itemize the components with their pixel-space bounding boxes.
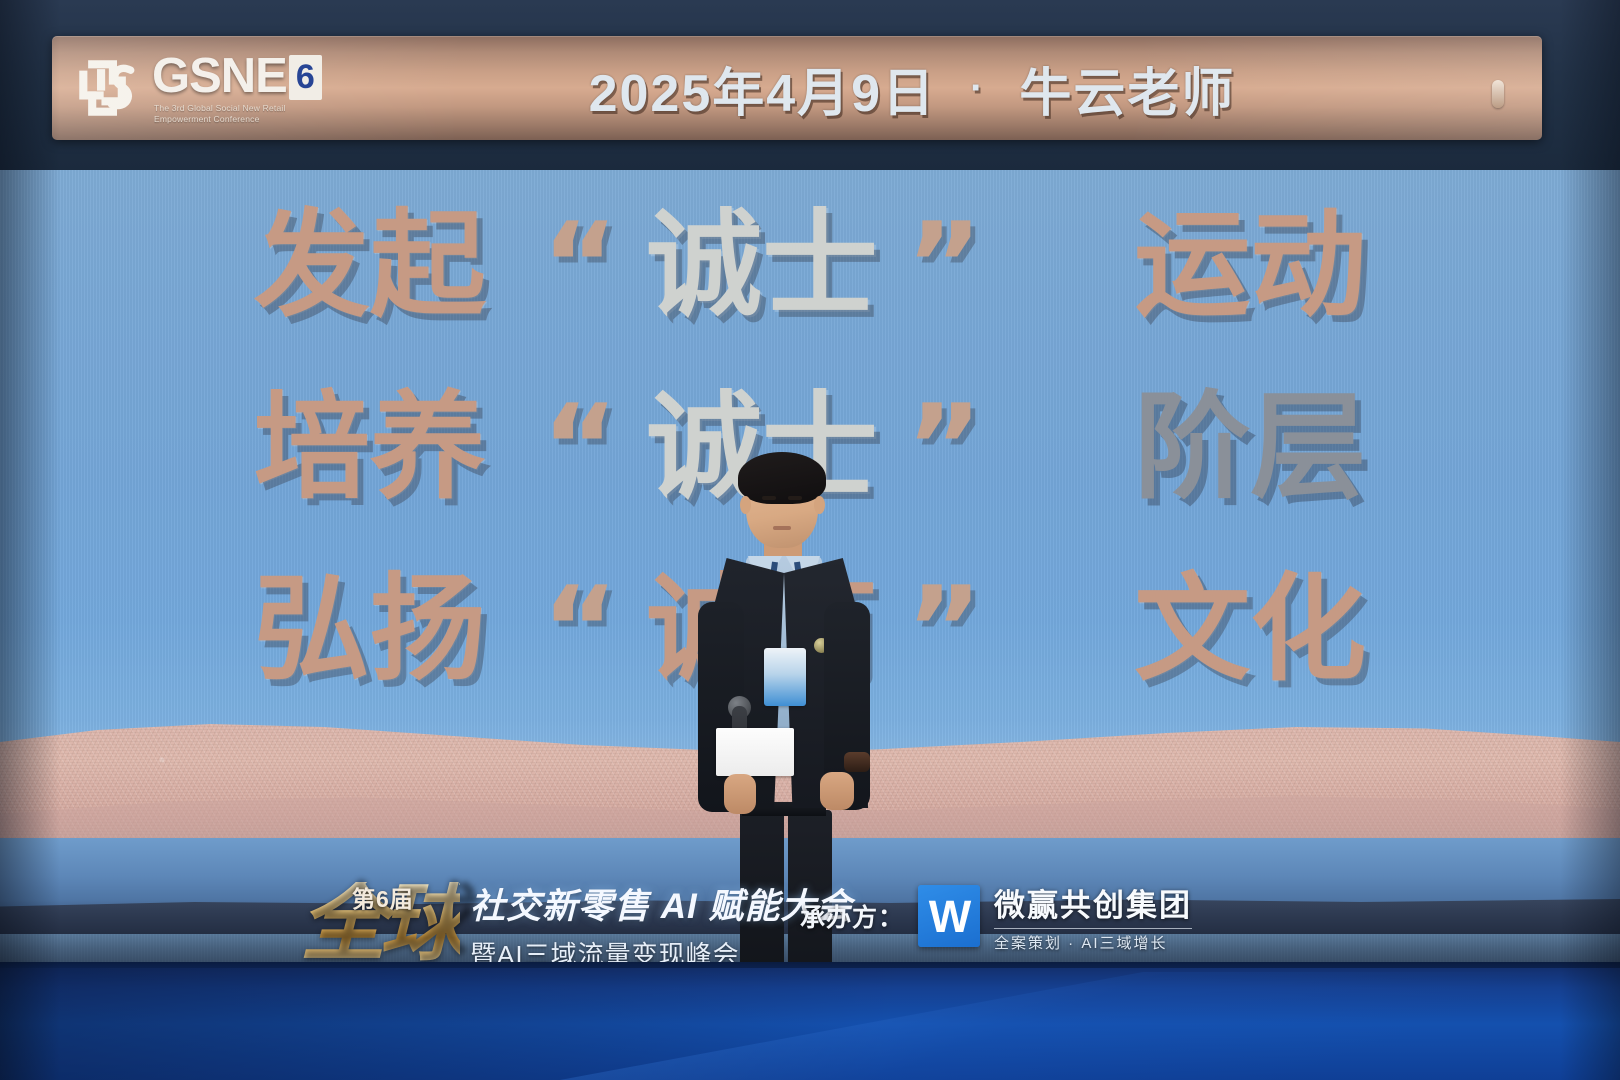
headline-1-object: 运动 bbox=[1134, 208, 1366, 324]
banner-speaker-name: 牛云老师 bbox=[1019, 51, 1235, 126]
banner-separator-dot: · bbox=[970, 68, 985, 108]
banner-title-row: 2025年4月9日 · 牛云老师 bbox=[412, 36, 1412, 140]
headline-2-open-quote: “ bbox=[542, 390, 618, 506]
headline-1-open-quote: “ bbox=[542, 208, 618, 324]
event-edition-label: 第6届 bbox=[352, 880, 414, 914]
top-date-banner: GSNE 6 The 3rd Global Social New Retail … bbox=[52, 36, 1542, 140]
speaker-hand-right bbox=[820, 772, 854, 810]
headline-1-verb: 发起 bbox=[254, 208, 486, 324]
speaker-hair bbox=[738, 452, 826, 504]
conference-stage-photo: 发起 “ 诚士 ” 运动 培养 “ 诚士 ” 阶层 弘扬 “ 诚商 bbox=[0, 0, 1620, 1080]
presenter-clicker-icon bbox=[844, 752, 870, 772]
speaker-mouth bbox=[773, 526, 791, 530]
event-organizer-block: 承办方： W 微赢共创集团 全案策划 · AI三域增长 bbox=[800, 876, 1192, 956]
gsne-logo-lockup: GSNE 6 The 3rd Global Social New Retail … bbox=[70, 42, 400, 134]
stage-top-truss: GSNE 6 The 3rd Global Social New Retail … bbox=[0, 0, 1620, 170]
headline-3-object: 文化 bbox=[1134, 572, 1366, 688]
banner-date: 2025年4月9日 bbox=[589, 51, 937, 126]
organizer-name: 微赢共创集团 bbox=[994, 880, 1192, 925]
microphone-flag-placard bbox=[716, 728, 794, 776]
organizer-name-block: 微赢共创集团 全案策划 · AI三域增长 bbox=[994, 880, 1192, 953]
headline-1-close-quote: ” bbox=[906, 208, 982, 324]
gsne-swirl-logo-icon bbox=[70, 51, 144, 125]
gsne-logo-subtitle: The 3rd Global Social New Retail Empower… bbox=[154, 103, 334, 124]
organizer-label: 承办方： bbox=[800, 898, 904, 934]
weiying-w-logo-icon: W bbox=[918, 885, 980, 947]
organizer-divider bbox=[994, 928, 1192, 929]
headline-2-close-quote: ” bbox=[906, 390, 982, 506]
headline-line-1: 发起 “ 诚士 ” 运动 bbox=[0, 186, 1620, 346]
gsne-edition-badge: 6 bbox=[289, 55, 322, 100]
organizer-tagline: 全案策划 · AI三域增长 bbox=[994, 932, 1192, 953]
speaker-badge bbox=[764, 648, 806, 706]
gsne-wordmark-block: GSNE 6 The 3rd Global Social New Retail … bbox=[152, 53, 334, 124]
speaker-ear-left bbox=[740, 496, 751, 514]
headline-3-close-quote: ” bbox=[906, 572, 982, 688]
gsne-wordmark: GSNE bbox=[152, 53, 287, 100]
banner-right-knob-icon bbox=[1492, 80, 1504, 108]
gsne-wordmark-row: GSNE 6 bbox=[152, 53, 334, 100]
organizer-logo-letter: W bbox=[929, 894, 969, 939]
headline-2-verb: 培养 bbox=[254, 390, 486, 506]
event-branding-bar: 全球 第6届 社交新零售 AI 赋能大会 暨AI三域流量变现峰会 承办方： W … bbox=[0, 866, 1620, 966]
speaker-ear-right bbox=[814, 496, 825, 514]
headline-3-verb: 弘扬 bbox=[254, 572, 486, 688]
speaker-hand-left bbox=[724, 774, 756, 814]
speaker-eye-right bbox=[788, 496, 802, 500]
headline-2-object: 阶层 bbox=[1134, 390, 1366, 506]
headline-1-keyword: 诚士 bbox=[646, 208, 878, 324]
speaker-eye-left bbox=[762, 496, 776, 500]
headline-3-open-quote: “ bbox=[542, 572, 618, 688]
event-title-block: 社交新零售 AI 赋能大会 暨AI三域流量变现峰会 bbox=[470, 878, 810, 972]
event-conference-title: 社交新零售 AI 赋能大会 bbox=[470, 878, 810, 929]
